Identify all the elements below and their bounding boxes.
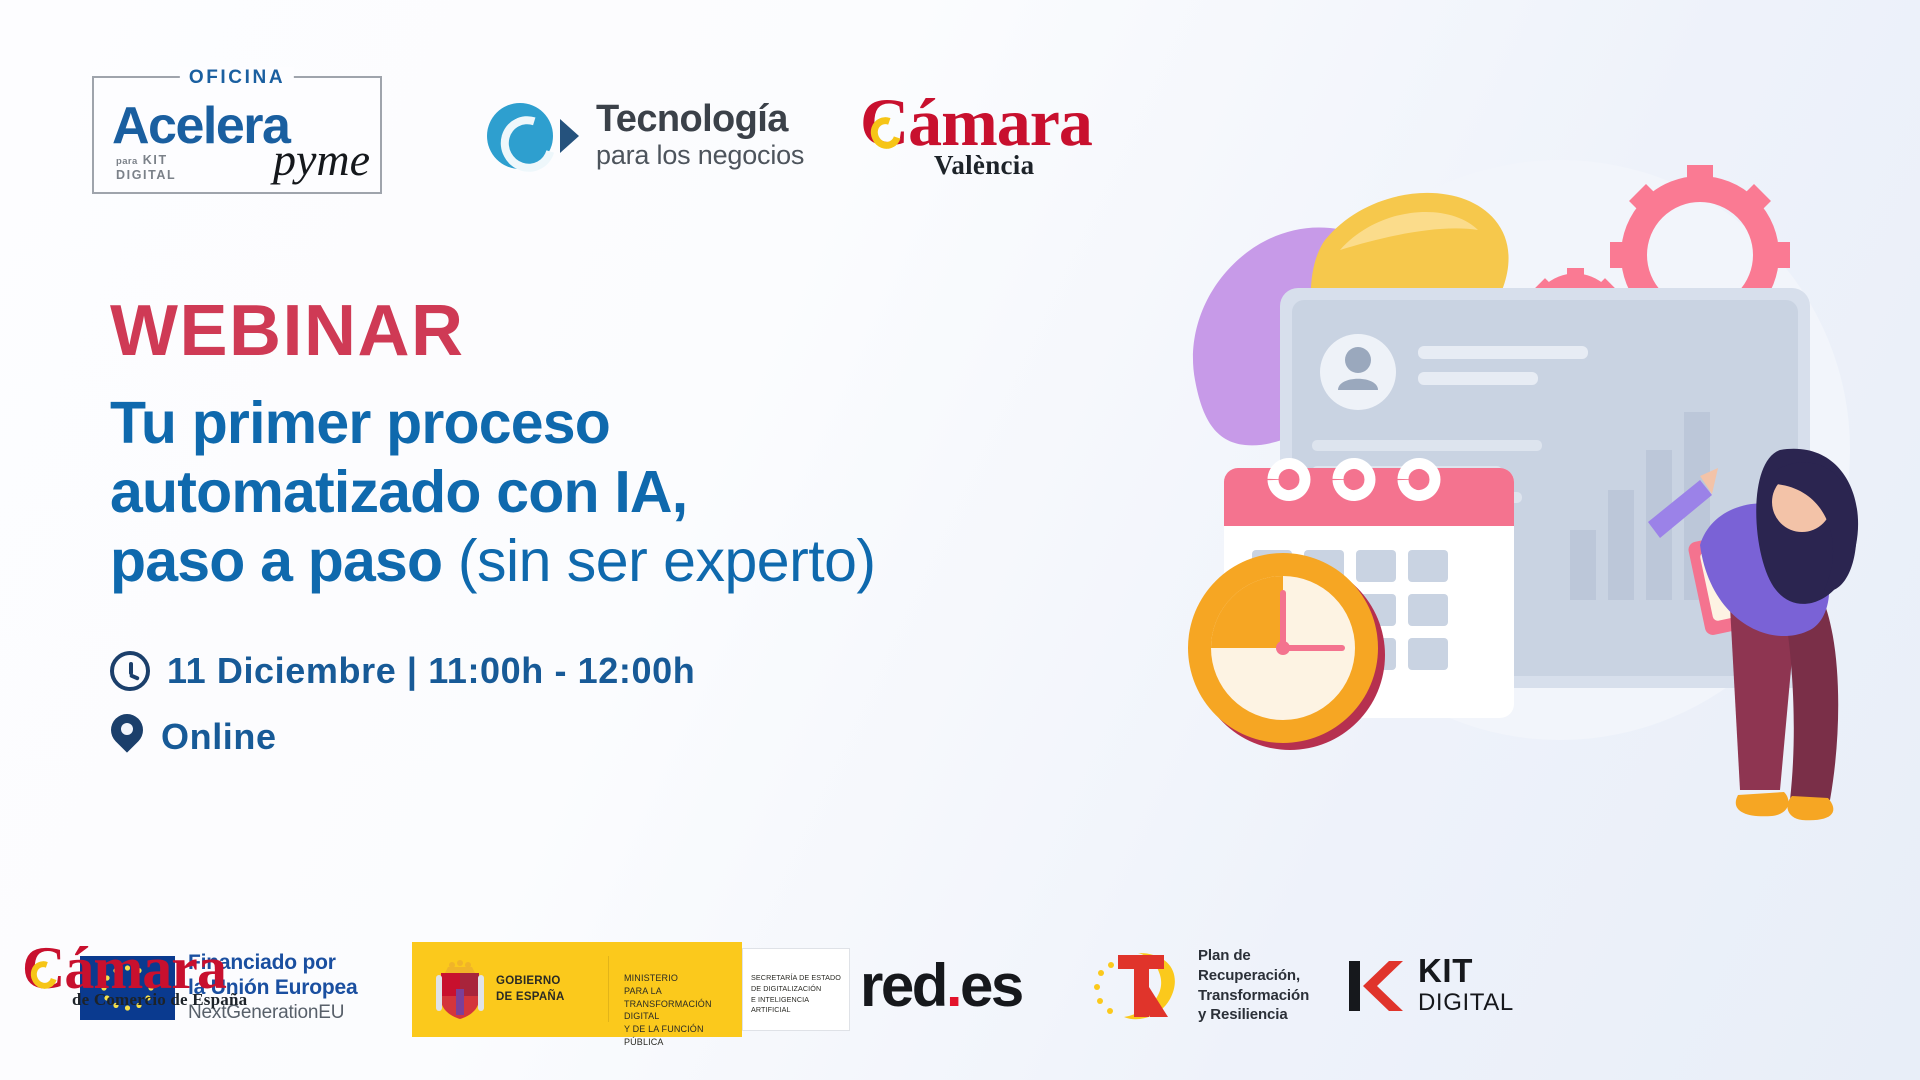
illustration-svg (1140, 150, 1920, 870)
logo-camara-valencia: Cámara València (838, 92, 1128, 184)
event-location-text: Online (161, 716, 277, 758)
acelera-kit-label: KIT (143, 153, 168, 167)
plan-tr-mark-icon (1090, 947, 1186, 1025)
secretaria-text: SECRETARÍA DE ESTADO DE DIGITALIZACIÓN E… (751, 973, 849, 1016)
tecnologia-wordmark: Tecnología para los negocios (596, 100, 804, 171)
plan-tr-line-3: Transformación (1198, 986, 1309, 1006)
clock-icon (110, 651, 150, 691)
coat-of-arms-svg (434, 959, 486, 1021)
webinar-automation-illustration (1140, 150, 1920, 870)
camara-valencia-sub: València (934, 150, 1034, 181)
kit-digital-svg (1345, 957, 1407, 1015)
kit-digital-text: KIT DIGITAL (1418, 954, 1514, 1018)
redes-part-1: red (860, 952, 946, 1019)
secretaria-line-3: E INTELIGENCIA ARTIFICIAL (751, 995, 849, 1017)
ministerio-line-3: Y DE LA FUNCIÓN PÚBLICA (624, 1023, 742, 1049)
plan-tr-line-1: Plan de (1198, 946, 1309, 966)
gobierno-line-1: GOBIERNO (496, 974, 565, 990)
redes-part-2: es (960, 952, 1022, 1019)
secretaria-estado-panel: SECRETARÍA DE ESTADO DE DIGITALIZACIÓN E… (742, 948, 850, 1031)
ministerio-line-2: PARA LA TRANSFORMACIÓN DIGITAL (624, 985, 742, 1023)
kit-digital-line-1: KIT (1418, 954, 1514, 987)
eyebrow-webinar: WEBINAR (110, 295, 1110, 367)
headline-line-3-light: (sin ser experto) (458, 528, 876, 594)
page-title: Tu primer proceso automatizado con IA, p… (110, 389, 1110, 596)
acelera-oficina-label: OFICINA (180, 67, 294, 89)
plan-tr-svg (1090, 947, 1186, 1025)
ministerio-text: MINISTERIO PARA LA TRANSFORMACIÓN DIGITA… (624, 972, 742, 1049)
ministerio-line-1: MINISTERIO (624, 972, 742, 985)
logo-plan-recuperacion: Plan de Recuperación, Transformación y R… (1090, 946, 1309, 1025)
logo-oficina-acelera-pyme: OFICINA Acelera pyme para KIT DIGITAL (92, 76, 382, 194)
redes-dot: . (946, 952, 960, 1019)
footer-logo-bar: Financiado por la Unión Europea NextGene… (0, 938, 1920, 1058)
headline-line-3-bold: paso a paso (110, 528, 458, 594)
plan-tr-text: Plan de Recuperación, Transformación y R… (1198, 946, 1309, 1025)
logo-red-es: red.es (860, 956, 1022, 1016)
gobierno-yellow-panel: GOBIERNO DE ESPAÑA MINISTERIO PARA LA TR… (412, 942, 742, 1037)
logo-tecnologia-para-los-negocios: Tecnología para los negocios (487, 90, 804, 182)
tecnologia-c-circle-icon (487, 103, 553, 169)
top-logo-bar: OFICINA Acelera pyme para KIT DIGITAL Te… (0, 62, 1180, 197)
gobierno-line-2: DE ESPAÑA (496, 990, 565, 1006)
tecnologia-line1: Tecnología (596, 100, 804, 138)
hero-text-block: WEBINAR Tu primer proceso automatizado c… (110, 295, 1110, 782)
acelera-digital-label: DIGITAL (116, 168, 176, 182)
redes-wordmark: red.es (860, 956, 1022, 1016)
event-date-text: 11 Diciembre | 11:00h - 12:00h (167, 650, 695, 692)
pyme-wordmark: pyme (273, 137, 370, 183)
plan-tr-line-4: y Resiliencia (1198, 1005, 1309, 1025)
logo-gobierno-de-espana: GOBIERNO DE ESPAÑA MINISTERIO PARA LA TR… (412, 942, 742, 1037)
event-date-row: 11 Diciembre | 11:00h - 12:00h (110, 650, 1110, 692)
headline-line-2: automatizado con IA, (110, 459, 687, 525)
gobierno-text: GOBIERNO DE ESPAÑA (496, 974, 565, 1005)
acelera-para-label: para (116, 156, 138, 167)
secretaria-line-1: SECRETARÍA DE ESTADO (751, 973, 849, 984)
acelera-wordmark: Acelera (112, 100, 289, 152)
kit-digital-mark-icon (1345, 957, 1407, 1015)
kit-digital-line-2: DIGITAL (1418, 989, 1514, 1018)
acelera-kit-digital-label: para KIT DIGITAL (116, 153, 176, 184)
chevron-right-icon (560, 119, 579, 153)
camara-espana-sub: de Comercio de España (72, 990, 247, 1010)
spain-coat-of-arms-icon (434, 959, 486, 1021)
gobierno-divider (608, 956, 609, 1022)
secretaria-line-2: DE DIGITALIZACIÓN (751, 984, 849, 995)
event-location-row: Online (110, 714, 1110, 760)
tecnologia-line2: para los negocios (596, 140, 804, 171)
plan-tr-line-2: Recuperación, (1198, 966, 1309, 986)
headline-line-1: Tu primer proceso (110, 390, 610, 456)
logo-kit-digital: KIT DIGITAL (1345, 954, 1514, 1018)
map-pin-icon (110, 714, 144, 760)
event-meta: 11 Diciembre | 11:00h - 12:00h Online (110, 650, 1110, 760)
